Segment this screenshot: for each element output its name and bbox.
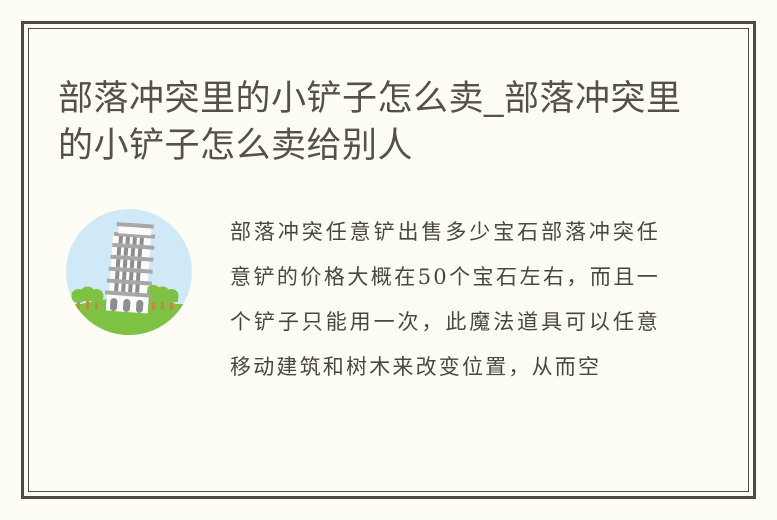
article-paragraph: 部落冲突任意铲出售多少宝石部落冲突任意铲的价格大概在50个宝石左右，而且一个铲子… bbox=[230, 210, 660, 390]
page-title: 部落冲突里的小铲子怎么卖_部落冲突里的小铲子怎么卖给别人 bbox=[58, 75, 708, 169]
illustration-badge bbox=[65, 208, 193, 336]
article-body: 部落冲突任意铲出售多少宝石部落冲突任意铲的价格大概在50个宝石左右，而且一个铲子… bbox=[230, 210, 660, 480]
content-area: 部落冲突里的小铲子怎么卖_部落冲突里的小铲子怎么卖给别人 bbox=[30, 30, 747, 490]
leaning-tower-icon bbox=[65, 208, 193, 336]
article-page: 部落冲突里的小铲子怎么卖_部落冲突里的小铲子怎么卖给别人 bbox=[0, 0, 777, 520]
